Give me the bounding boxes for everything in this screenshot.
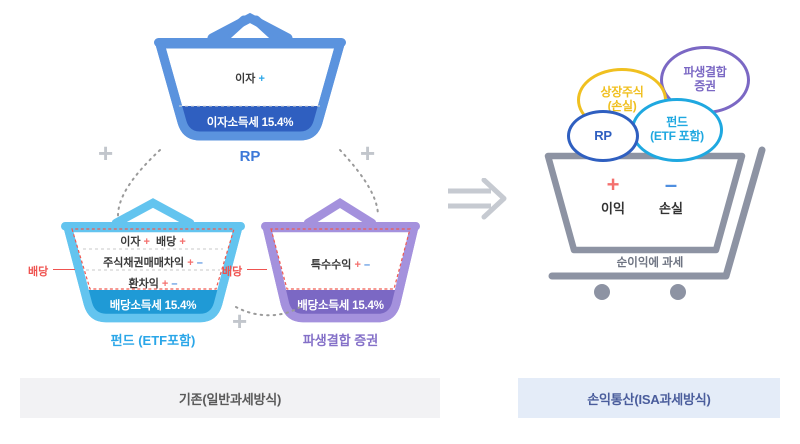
bubble-rp-text: RP [594, 129, 611, 144]
cart-loss-group: – 손실 [646, 174, 696, 217]
bubble-rp: RP [567, 110, 639, 162]
cart-footer-note: 순이익에 과세 [560, 254, 740, 270]
caption-existing: 기존(일반과세방식) [20, 378, 440, 418]
bubble-fund-text: 펀드(ETF 포함) [650, 116, 704, 144]
connector-plus-bottom-text: + [232, 306, 247, 336]
cart-profit-sign: + [588, 174, 638, 196]
connector-plus-right-text: + [360, 138, 375, 168]
right-arrow-icon [446, 178, 516, 222]
shopping-cart-icon [530, 142, 770, 307]
connector-plus-left: + [98, 140, 113, 166]
cart-profit-label: 이익 [588, 198, 638, 217]
cart-profit-group: + 이익 [588, 174, 638, 217]
connector-plus-left-text: + [98, 138, 113, 168]
infographic-canvas: 이자 + 이자소득세 15.4% RP [0, 0, 800, 444]
bubble-derivative-text: 파생결합증권 [684, 66, 727, 94]
bubble-fund: 펀드(ETF 포함) [631, 98, 723, 162]
cart-loss-sign: – [646, 174, 696, 196]
caption-existing-text: 기존(일반과세방식) [179, 389, 281, 408]
connector-arcs [0, 0, 450, 380]
connector-plus-right: + [360, 140, 375, 166]
connector-plus-bottom: + [232, 308, 247, 334]
caption-isa-text: 손익통산(ISA과세방식) [587, 389, 710, 408]
cart-loss-label: 손실 [646, 198, 696, 217]
caption-isa: 손익통산(ISA과세방식) [518, 378, 780, 418]
cart-footer-text: 순이익에 과세 [617, 257, 684, 269]
